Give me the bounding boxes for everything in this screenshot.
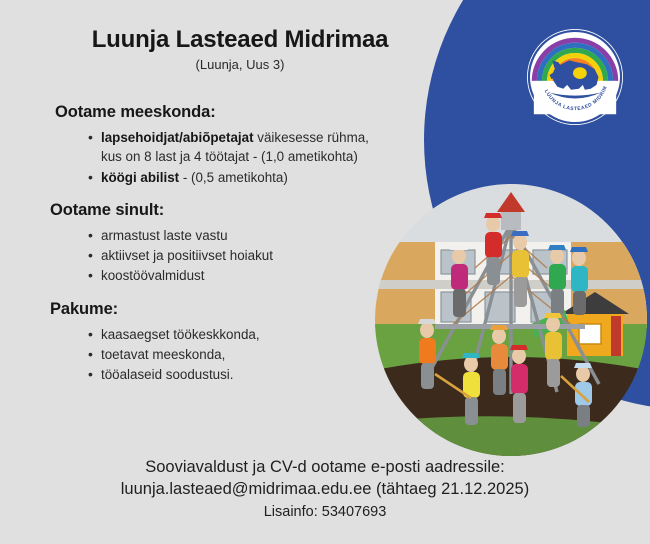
list-item: koostöövalmidust [88, 266, 430, 285]
job-advertisement-poster: LUUNJA LASTEAED MIDRIMAA [0, 0, 650, 544]
list-item: armastust laste vastu [88, 226, 430, 245]
footer-application-instruction: Sooviavaldust ja CV-d ootame e-posti aad… [0, 456, 650, 478]
list-item: köögi abilist - (0,5 ametikohta) [88, 168, 430, 187]
poster-header: Luunja Lasteaed Midrimaa (Luunja, Uus 3) [0, 26, 480, 72]
contact-footer: Sooviavaldust ja CV-d ootame e-posti aad… [0, 456, 650, 522]
section-heading-ootame-meeskonda: Ootame meeskonda: [0, 103, 430, 122]
section-ootame-meeskonda: Ootame meeskonda: lapsehoidjat/abiõpetaj… [0, 103, 430, 187]
section-pakume: Pakume: kaasaegset töökeskkonda, toetava… [0, 300, 430, 385]
poster-content: Ootame meeskonda: lapsehoidjat/abiõpetaj… [0, 103, 430, 399]
list-item: tööalaseid soodustusi. [88, 365, 430, 384]
footer-email-and-deadline[interactable]: luunja.lasteaed@midrimaa.edu.ee (tähtaeg… [0, 478, 650, 500]
list-item-text: aktiivset ja positiivset hoiakut [101, 248, 273, 263]
bullet-list-pakume: kaasaegset töökeskkonda, toetavat meesko… [0, 325, 430, 385]
organization-address: (Luunja, Uus 3) [0, 57, 480, 72]
section-heading-pakume: Pakume: [0, 300, 430, 319]
list-item-text: koostöövalmidust [101, 268, 204, 283]
list-item-text: toetavat meeskonda, [101, 347, 225, 362]
list-item-text: tööalaseid soodustusi. [101, 367, 234, 382]
bullet-list-ootame-sinult: armastust laste vastu aktiivset ja posit… [0, 226, 430, 286]
list-item: lapsehoidjat/abiõpetajat väikesesse rühm… [88, 128, 430, 167]
organization-logo: LUUNJA LASTEAED MIDRIMAA [526, 28, 624, 126]
organization-title: Luunja Lasteaed Midrimaa [0, 26, 480, 54]
list-item: kaasaegset töökeskkonda, [88, 325, 430, 344]
list-item-strong: köögi abilist [101, 170, 179, 185]
list-item-text: kaasaegset töökeskkonda, [101, 327, 260, 342]
section-ootame-sinult: Ootame sinult: armastust laste vastu akt… [0, 201, 430, 286]
list-item-text: väikesesse rühma, [254, 130, 369, 145]
list-item: toetavat meeskonda, [88, 345, 430, 364]
list-item-second-line: kus on 8 last ja 4 töötajat - (1,0 ameti… [101, 147, 430, 166]
section-heading-ootame-sinult: Ootame sinult: [0, 201, 430, 220]
footer-phone[interactable]: Lisainfo: 53407693 [0, 503, 650, 522]
list-item-text: armastust laste vastu [101, 228, 228, 243]
bullet-list-ootame-meeskonda: lapsehoidjat/abiõpetajat väikesesse rühm… [0, 128, 430, 187]
list-item: aktiivset ja positiivset hoiakut [88, 246, 430, 265]
list-item-text: - (0,5 ametikohta) [179, 170, 288, 185]
list-item-strong: lapsehoidjat/abiõpetajat [101, 130, 254, 145]
